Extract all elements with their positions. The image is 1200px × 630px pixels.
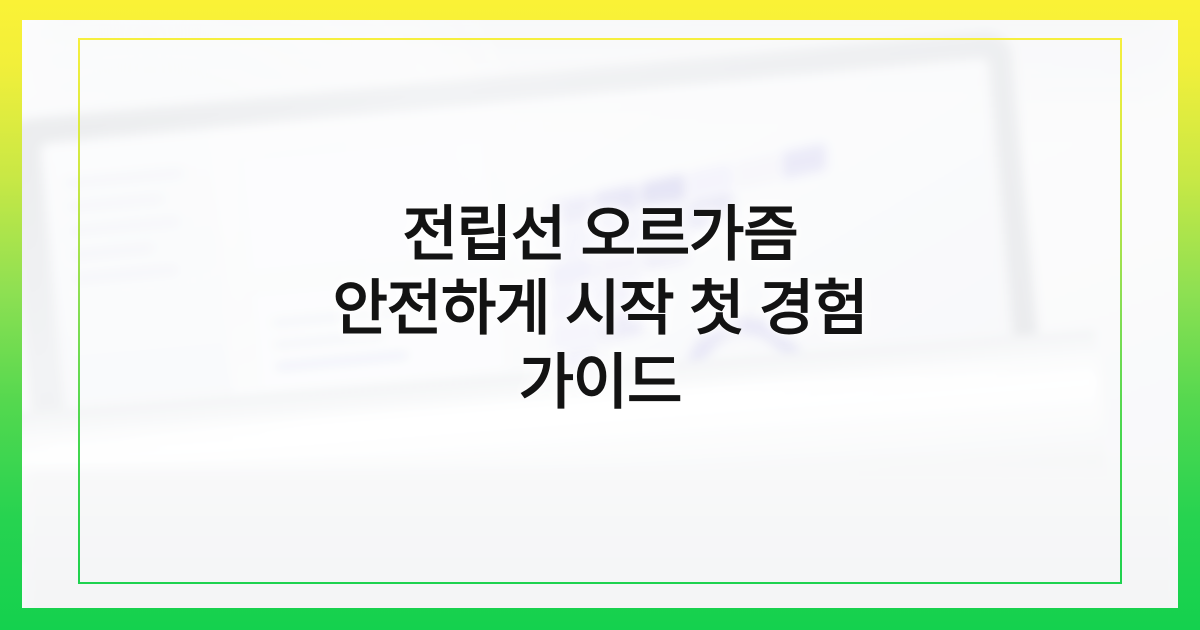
headline-line-2: 안전하게 시작 첫 경험 <box>333 272 868 346</box>
thumbnail-card: 전립선 오르가즘 안전하게 시작 첫 경험 가이드 <box>0 0 1200 630</box>
headline-line-3: 가이드 <box>519 346 682 420</box>
headline-block: 전립선 오르가즘 안전하게 시작 첫 경험 가이드 <box>78 38 1122 584</box>
white-plate: 전립선 오르가즘 안전하게 시작 첫 경험 가이드 <box>22 20 1178 608</box>
headline-line-1: 전립선 오르가즘 <box>402 198 797 272</box>
